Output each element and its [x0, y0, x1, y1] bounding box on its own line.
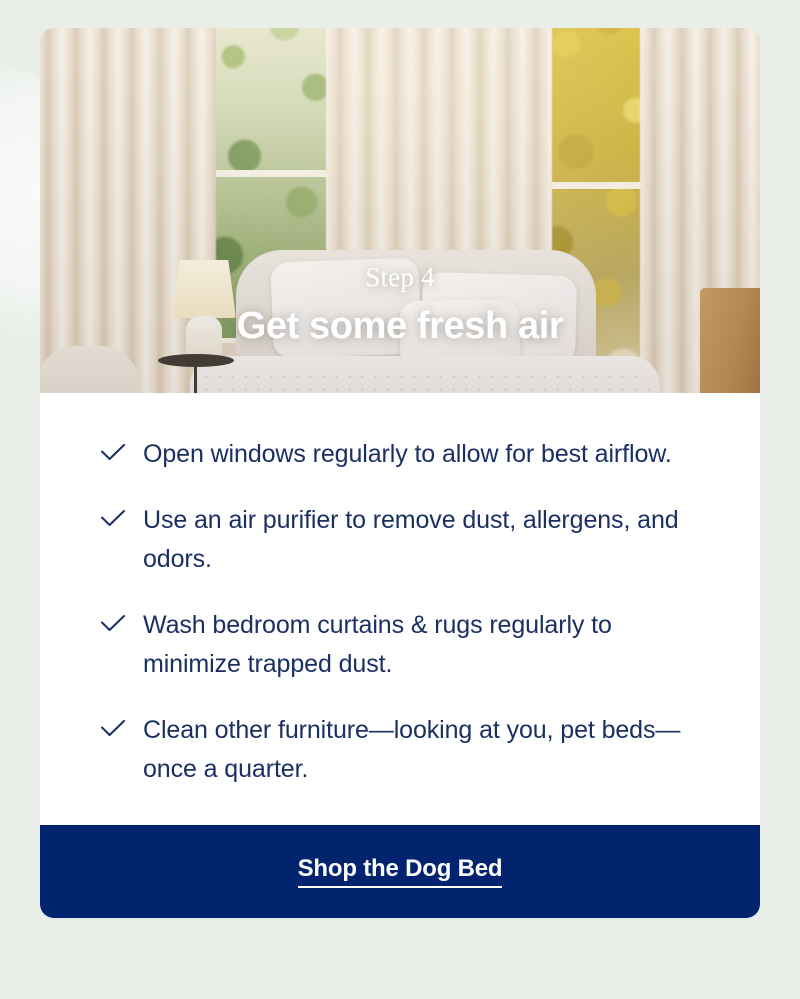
hero-image: Step 4 Get some fresh air: [40, 28, 760, 393]
window-mullion: [545, 182, 645, 189]
list-item: Clean other furniture—looking at you, pe…: [100, 711, 716, 789]
benefit-list: Open windows regularly to allow for best…: [100, 435, 716, 789]
benefit-text: Wash bedroom curtains & rugs regularly t…: [143, 606, 716, 684]
pillow: [270, 257, 421, 358]
side-table-leg: [194, 364, 197, 393]
benefit-text: Clean other furniture—looking at you, pe…: [143, 711, 716, 789]
wooden-dresser: [700, 288, 760, 393]
promo-card: Step 4 Get some fresh air Open windows r…: [40, 28, 760, 918]
benefit-text: Use an air purifier to remove dust, alle…: [143, 501, 716, 579]
bedroom-scene: [40, 28, 760, 393]
benefit-text: Open windows regularly to allow for best…: [143, 435, 672, 474]
lamp-shade: [172, 260, 236, 318]
list-item: Open windows regularly to allow for best…: [100, 435, 716, 474]
check-icon: [100, 606, 126, 640]
check-icon: [100, 501, 126, 535]
check-icon: [100, 711, 126, 745]
list-item: Use an air purifier to remove dust, alle…: [100, 501, 716, 579]
list-item: Wash bedroom curtains & rugs regularly t…: [100, 606, 716, 684]
window-mullion: [214, 170, 332, 177]
shop-the-dog-bed-link[interactable]: Shop the Dog Bed: [298, 855, 503, 888]
cta-bar[interactable]: Shop the Dog Bed: [40, 825, 760, 918]
check-icon: [100, 435, 126, 469]
bed-mattress: [190, 356, 660, 393]
benefits-panel: Open windows regularly to allow for best…: [40, 393, 760, 825]
